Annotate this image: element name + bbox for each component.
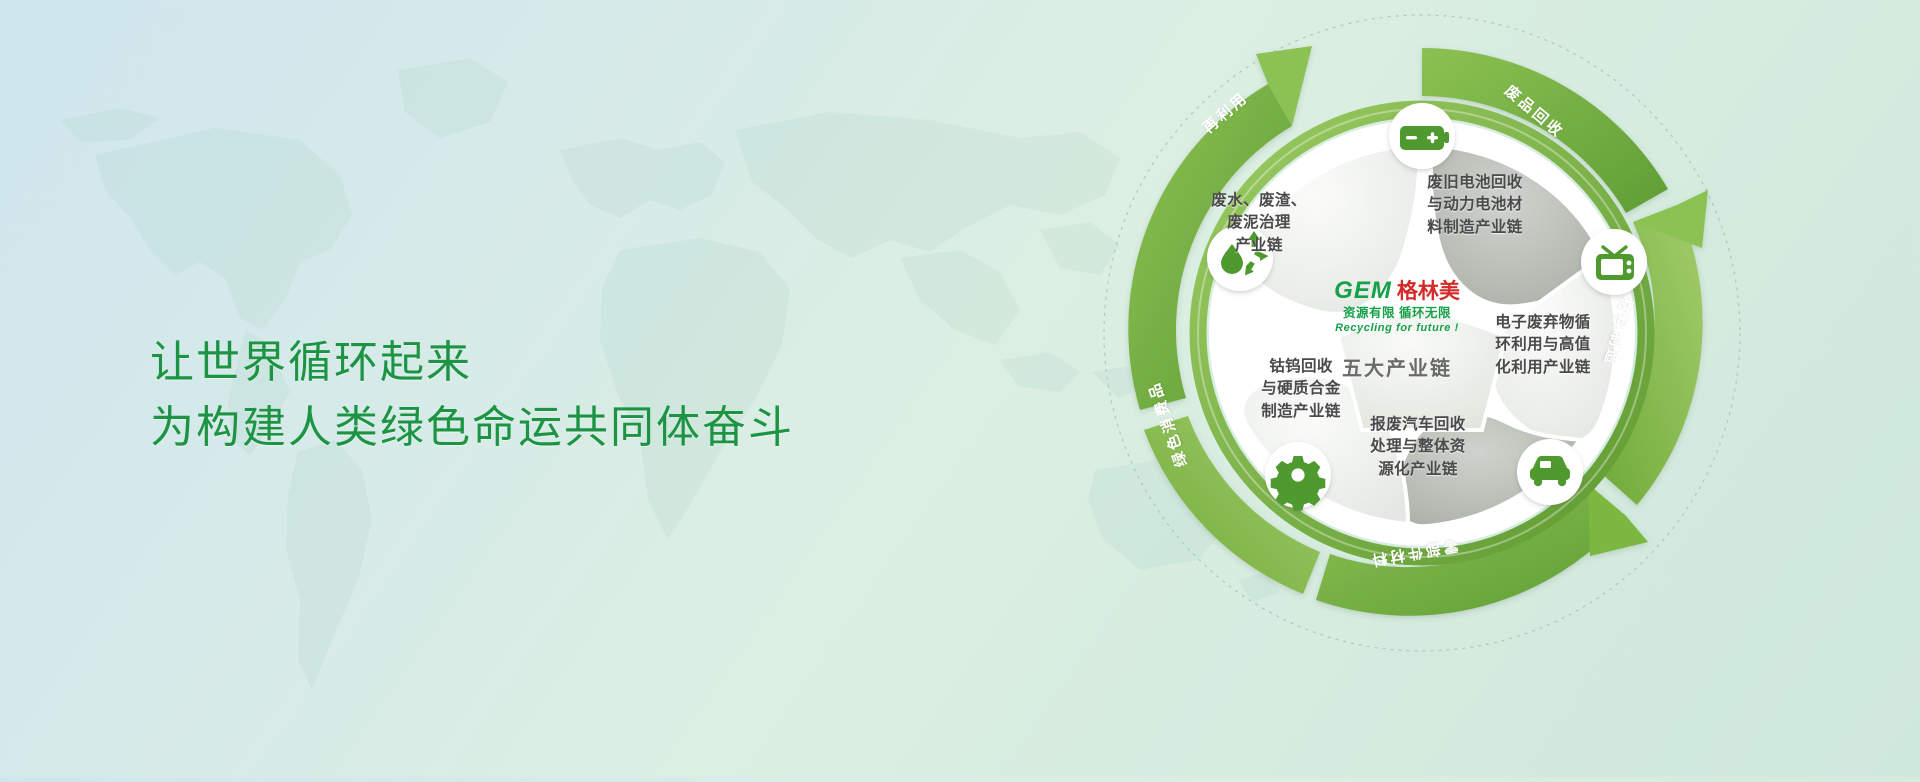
logo-slogan-cn: 资源有限 循环无限 — [1327, 307, 1467, 320]
television-icon[interactable] — [1581, 229, 1647, 295]
logo-chinese: 格林美 — [1397, 280, 1460, 303]
headline-line-1: 让世界循环起来 — [150, 330, 794, 395]
circular-economy-diagram: 废水、废渣、 废泥治理 产业链 废旧电池回收 与动力电池材 料制造产业链 电子废… — [1020, 0, 1920, 777]
gem-logo: GEM格林美 资源有限 循环无限 Recycling for future ! — [1327, 279, 1467, 334]
logo-slogan-en: Recycling for future ! — [1327, 323, 1467, 334]
chain-label-scrap-vehicle: 报废汽车回收 处理与整体资 源化产业链 — [1352, 414, 1484, 481]
headline-line-2: 为构建人类绿色命运共同体奋斗 — [150, 395, 794, 460]
chain-label-waste-battery: 废旧电池回收 与动力电池材 料制造产业链 — [1405, 172, 1545, 239]
headline: 让世界循环起来 为构建人类绿色命运共同体奋斗 — [150, 330, 794, 460]
center-title: 五大产业链 — [1327, 352, 1467, 381]
logo-latin: GEM — [1334, 277, 1392, 304]
logo-wordmark: GEM格林美 — [1327, 279, 1467, 303]
battery-icon[interactable] — [1389, 103, 1455, 169]
car-icon[interactable] — [1517, 439, 1583, 505]
chain-label-waste-water: 废水、废渣、 废泥治理 产业链 — [1193, 190, 1325, 257]
chain-label-e-waste: 电子废弃物循 环利用与高值 化利用产业链 — [1478, 312, 1608, 379]
